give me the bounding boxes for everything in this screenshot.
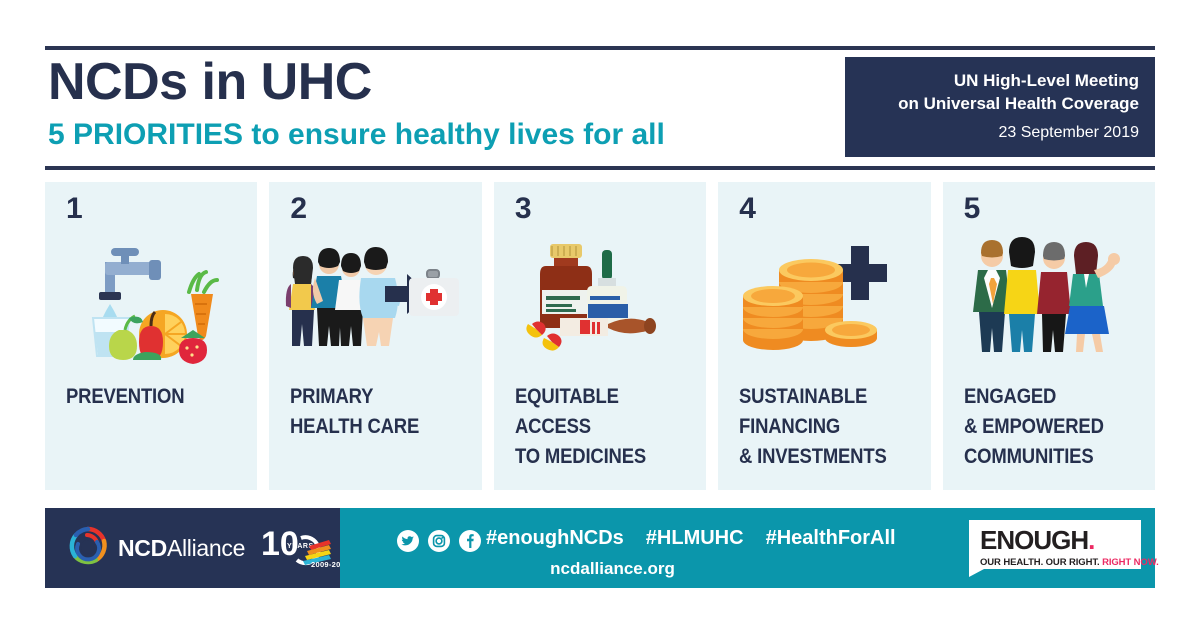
ncd-alliance-logo[interactable]: NCDAlliance	[67, 525, 245, 572]
meeting-line-1: UN High-Level Meeting	[845, 70, 1139, 93]
brand-bold: NCD	[118, 535, 167, 561]
anniversary-10-years-logo: 10 YEARS 2009-2019	[261, 522, 349, 575]
infographic-page: NCDs in UHC 5 PRIORITIES to ensure healt…	[0, 0, 1200, 630]
card-label-line: ENGAGED	[964, 382, 1125, 412]
card-label-line: SUSTAINABLE	[739, 382, 900, 412]
footer-social-area: #enoughNCDs#HLMUHC#HealthForAll ncdallia…	[340, 508, 1155, 588]
brand-thin: Alliance	[167, 535, 245, 561]
twitter-icon[interactable]	[397, 530, 419, 557]
card-number-2: 2	[290, 194, 307, 224]
website-url[interactable]: ncdalliance.org	[340, 559, 885, 579]
facebook-icon[interactable]	[459, 530, 481, 557]
tagline-dark: OUR HEALTH. OUR RIGHT.	[980, 557, 1102, 568]
header-top-rule	[45, 46, 1155, 50]
meeting-info-box: UN High-Level Meeting on Universal Healt…	[845, 57, 1155, 157]
card-label-line: EQUITABLE	[515, 382, 676, 412]
hashtag-item[interactable]: #HLMUHC	[646, 527, 744, 549]
hashtag-item[interactable]: #HealthForAll	[766, 527, 896, 549]
priority-card-4[interactable]: 4	[718, 182, 930, 490]
hashtag-item[interactable]: #enoughNCDs	[486, 527, 624, 549]
priority-cards: 1	[45, 182, 1155, 490]
card-label-3: EQUITABLE ACCESS TO MEDICINES	[515, 382, 676, 471]
medicine-bottles-pills-icon	[494, 234, 706, 374]
enough-tagline: OUR HEALTH. OUR RIGHT. RIGHT NOW.	[980, 557, 1141, 568]
enough-campaign-logo[interactable]: ENOUGH. OUR HEALTH. OUR RIGHT. RIGHT NOW…	[969, 520, 1141, 576]
meeting-line-2: on Universal Health Coverage	[845, 93, 1139, 116]
priority-card-2[interactable]: 2	[269, 182, 481, 490]
ncd-alliance-ring-icon	[67, 525, 109, 572]
card-label-line: FINANCING	[739, 412, 900, 442]
subtitle-rest: to ensure healthy lives for all	[243, 118, 665, 151]
ncd-alliance-wordmark: NCDAlliance	[118, 535, 245, 562]
card-number-1: 1	[66, 194, 83, 224]
card-label-2: PRIMARY HEALTH CARE	[290, 382, 451, 442]
card-number-5: 5	[964, 194, 981, 224]
people-queue-medical-kit-icon	[269, 234, 481, 374]
group-of-people-icon	[943, 234, 1155, 374]
card-label-line: PREVENTION	[66, 382, 227, 412]
card-label-line: & EMPOWERED	[964, 412, 1125, 442]
enough-word-text: ENOUGH	[980, 525, 1088, 555]
instagram-icon[interactable]	[428, 530, 450, 557]
speech-bubble-tail	[969, 569, 984, 577]
tagline-pink: RIGHT NOW.	[1102, 557, 1159, 568]
hashtag-list: #enoughNCDs#HLMUHC#HealthForAll	[486, 527, 896, 550]
meeting-date: 23 September 2019	[845, 122, 1139, 144]
card-label-line: TO MEDICINES	[515, 442, 676, 472]
page-title: NCDs in UHC	[48, 56, 372, 108]
card-label-line: & INVESTMENTS	[739, 442, 900, 472]
card-label-4: SUSTAINABLE FINANCING & INVESTMENTS	[739, 382, 900, 471]
enough-wordmark: ENOUGH.	[980, 527, 1141, 553]
footer-bar: NCDAlliance 10 YEARS 2009-2019	[45, 508, 1155, 588]
subtitle-strong: 5 PRIORITIES	[48, 118, 243, 151]
card-label-line: PRIMARY	[290, 382, 451, 412]
card-label-line: ACCESS	[515, 412, 676, 442]
footer-brand-area: NCDAlliance 10 YEARS 2009-2019	[45, 508, 340, 588]
priority-card-1[interactable]: 1	[45, 182, 257, 490]
card-number-3: 3	[515, 194, 532, 224]
social-icons	[397, 530, 481, 557]
card-label-line: HEALTH CARE	[290, 412, 451, 442]
header-bottom-rule	[45, 166, 1155, 170]
card-label-line: COMMUNITIES	[964, 442, 1125, 472]
coin-stacks-plus-icon	[718, 234, 930, 374]
enough-logo-body: ENOUGH. OUR HEALTH. OUR RIGHT. RIGHT NOW…	[969, 520, 1141, 569]
card-label-5: ENGAGED & EMPOWERED COMMUNITIES	[964, 382, 1125, 471]
card-number-4: 4	[739, 194, 756, 224]
card-label-1: PREVENTION	[66, 382, 227, 412]
priority-card-5[interactable]: 5	[943, 182, 1155, 490]
priority-card-3[interactable]: 3	[494, 182, 706, 490]
page-subtitle: 5 PRIORITIES to ensure healthy lives for…	[48, 120, 665, 150]
tap-water-fruits-vegetables-icon	[45, 234, 257, 374]
enough-dot: .	[1088, 525, 1094, 555]
